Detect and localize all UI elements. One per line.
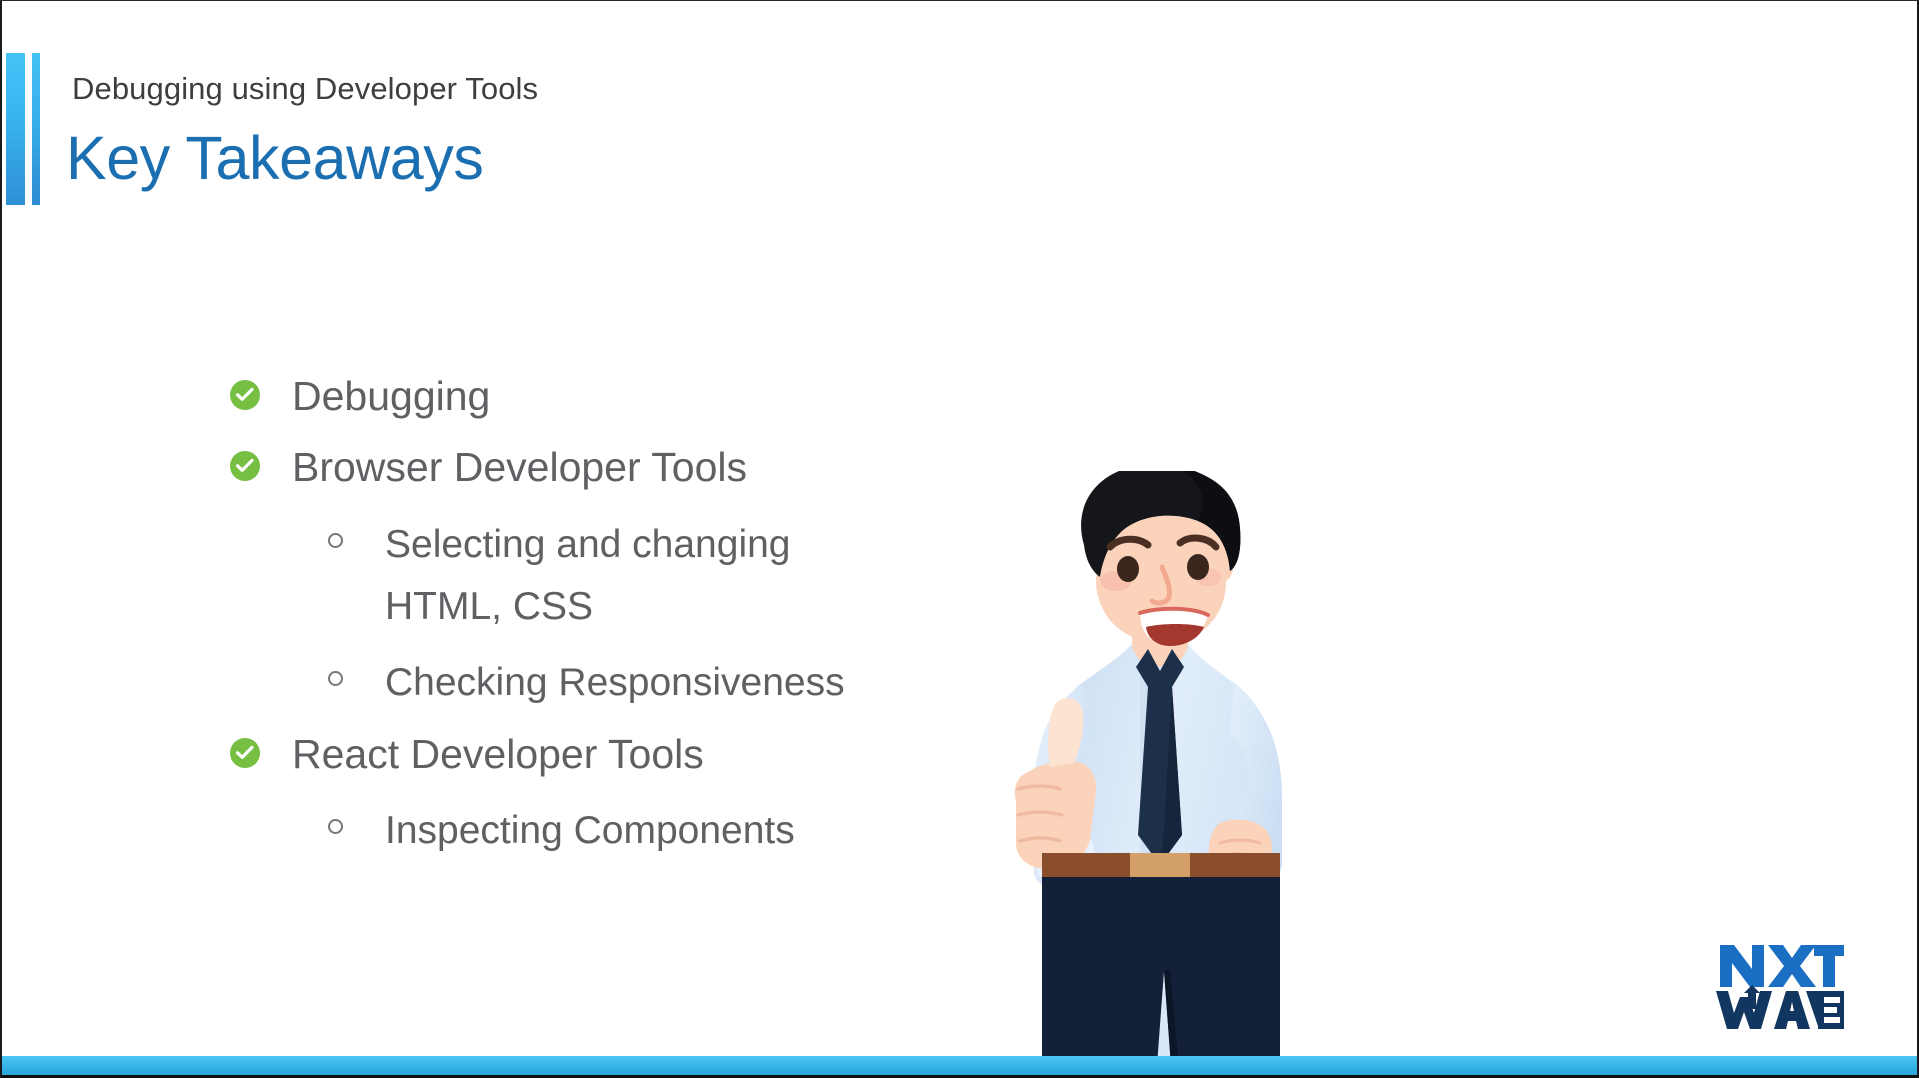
list-item: Checking Responsiveness (230, 652, 990, 714)
list-item: Selecting and changing HTML, CSS (230, 514, 990, 639)
hollow-circle-icon (328, 819, 343, 834)
slide-eyebrow: Debugging using Developer Tools (72, 71, 538, 107)
page-title: Key Takeaways (66, 123, 484, 193)
list-item-label: Checking Responsiveness (385, 652, 845, 714)
list-item-label: Inspecting Components (385, 800, 795, 862)
bottom-accent-bar (2, 1056, 1917, 1075)
list-item: Inspecting Components (230, 800, 990, 862)
left-accent-bars (6, 53, 46, 205)
slide-canvas: Debugging using Developer Tools Key Take… (0, 0, 1919, 1078)
accent-bar-wide (6, 53, 25, 205)
list-item: Debugging (230, 371, 990, 422)
list-item: React Developer Tools (230, 729, 990, 780)
list-item-label: Browser Developer Tools (292, 442, 747, 493)
nxtwave-logo (1714, 939, 1844, 1031)
list-item: Browser Developer Tools (230, 442, 990, 493)
check-circle-icon (230, 451, 260, 481)
check-circle-icon (230, 380, 260, 410)
list-item-label: React Developer Tools (292, 729, 704, 780)
businessman-thumbs-up-illustration (1012, 471, 1352, 1078)
list-item-label: Selecting and changing HTML, CSS (385, 514, 790, 639)
check-circle-icon (230, 738, 260, 768)
accent-bar-thin (32, 53, 40, 205)
hollow-circle-icon (328, 671, 343, 686)
takeaways-list: Debugging Browser Developer Tools Select… (230, 371, 990, 876)
hollow-circle-icon (328, 533, 343, 548)
list-item-label: Debugging (292, 371, 490, 422)
